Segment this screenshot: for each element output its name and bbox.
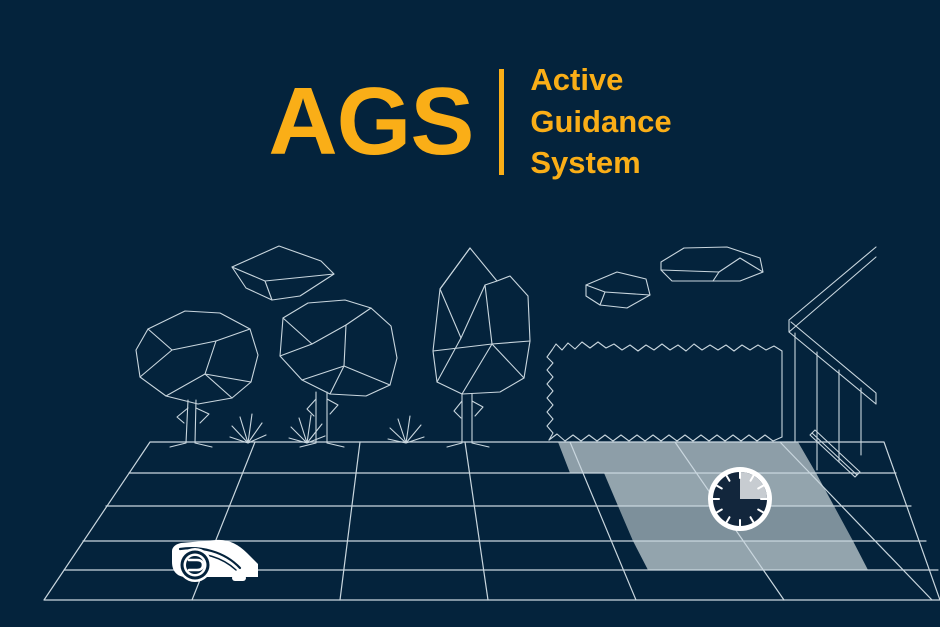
brand-divider [499, 69, 504, 175]
illustration-canvas: AGS Active Guidance System [0, 0, 940, 627]
brand-name: Active Guidance System [530, 62, 671, 182]
brand-name-line-3: System [530, 145, 671, 182]
brand-lockup: AGS Active Guidance System [0, 62, 940, 182]
brand-name-line-1: Active [530, 62, 671, 99]
brand-name-line-2: Guidance [530, 104, 671, 141]
brand-acronym: AGS [268, 74, 473, 170]
timer-clock-icon [708, 467, 772, 531]
